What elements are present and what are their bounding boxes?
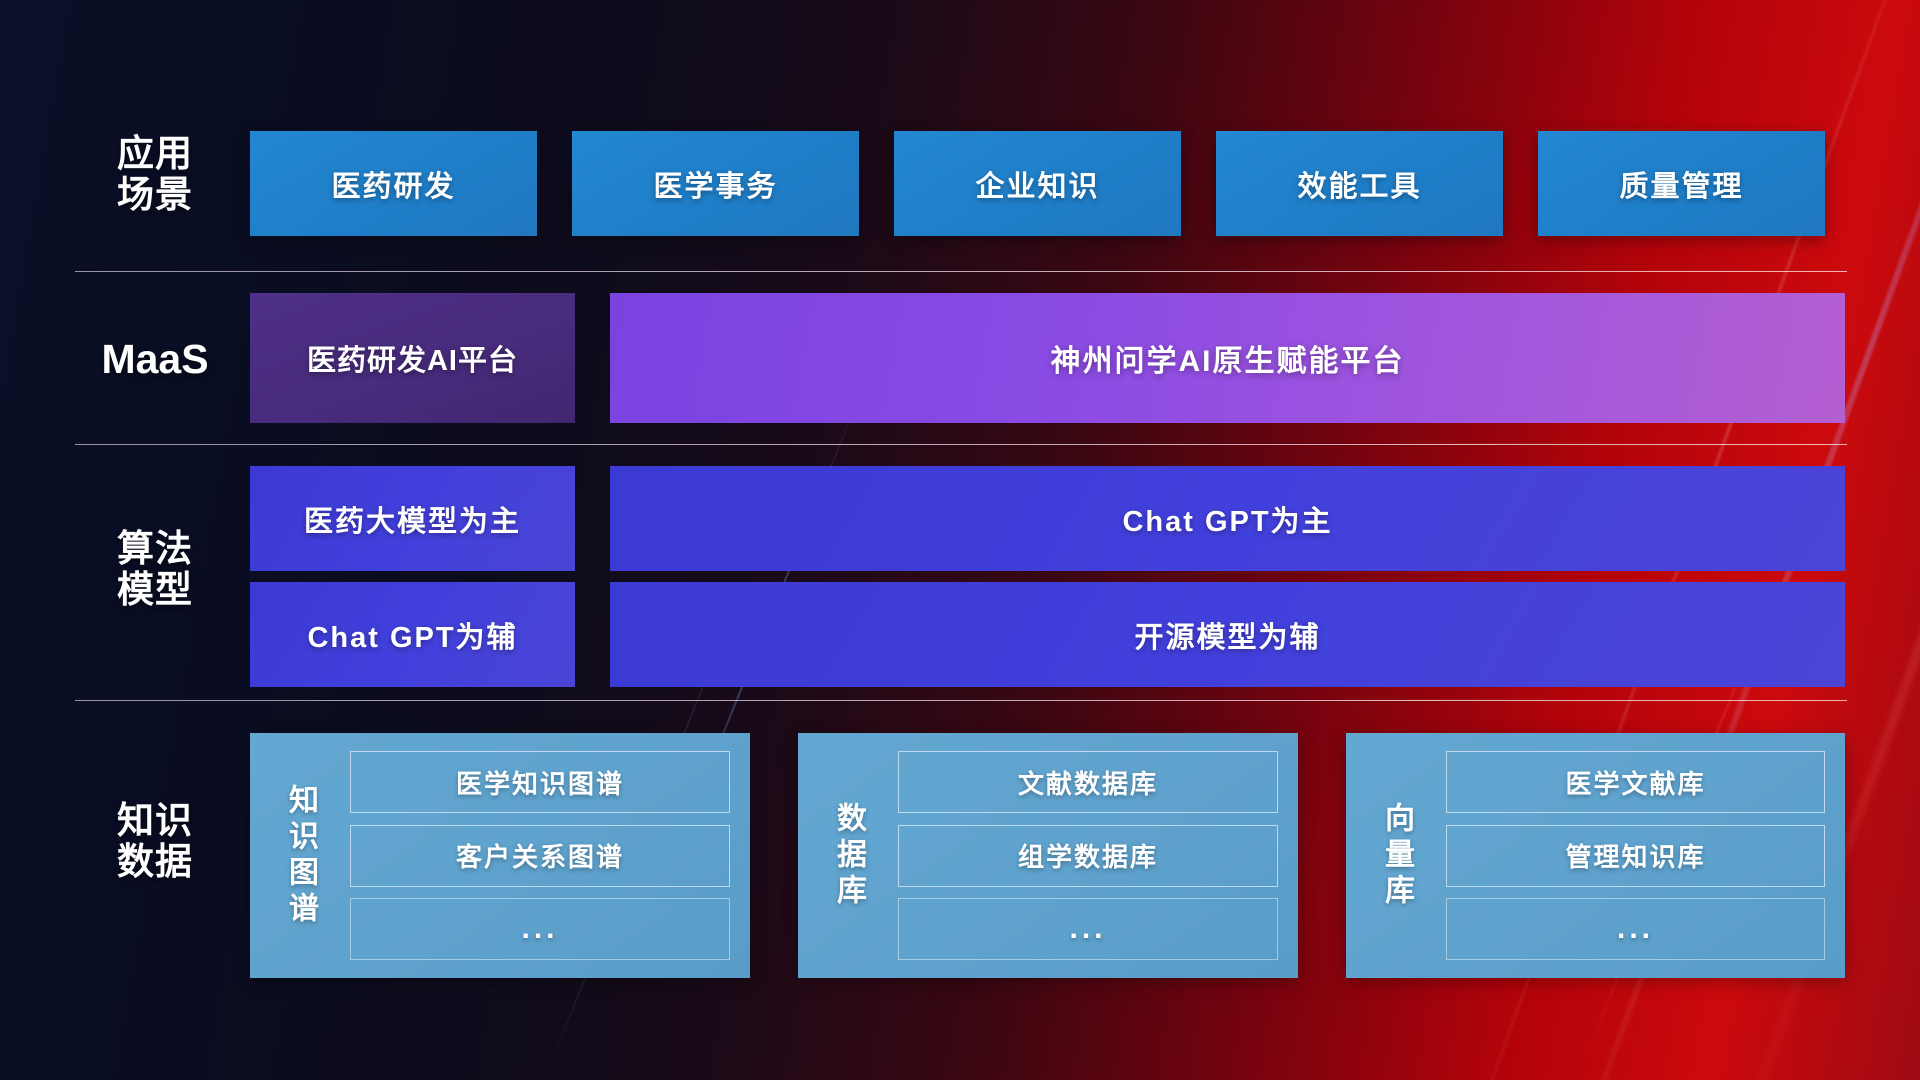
- row-label-knowledge-line1: 知识: [70, 800, 240, 841]
- divider-2: [75, 444, 1847, 445]
- divider-1: [75, 271, 1847, 272]
- knowledge-item-management-knowledge-base[interactable]: 管理知识库: [1446, 825, 1825, 887]
- app-box-efficiency-tools[interactable]: 效能工具: [1216, 131, 1503, 236]
- row-label-algorithm-line1: 算法: [70, 528, 240, 569]
- row-label-knowledge-line2: 数据: [70, 841, 240, 882]
- row-label-application: 应用 场景: [70, 133, 240, 216]
- row-label-algorithm-line2: 模型: [70, 569, 240, 610]
- app-box-enterprise-knowledge[interactable]: 企业知识: [894, 131, 1181, 236]
- knowledge-item-literature-database[interactable]: 文献数据库: [898, 751, 1278, 813]
- knowledge-item-vector-more[interactable]: ...: [1446, 898, 1825, 960]
- row-label-maas: MaaS: [70, 337, 240, 383]
- knowledge-panel-graph[interactable]: 知识图谱 医学知识图谱 客户关系图谱 ...: [250, 733, 750, 978]
- algorithm-row-2: Chat GPT为辅 开源模型为辅: [250, 582, 1845, 687]
- diagram-canvas: 应用 场景 医药研发 医学事务 企业知识 效能工具 质量管理 MaaS 医药研发…: [0, 0, 1920, 1080]
- knowledge-item-medical-literature-library[interactable]: 医学文献库: [1446, 751, 1825, 813]
- divider-3: [75, 700, 1847, 701]
- row-label-algorithm: 算法 模型: [70, 528, 240, 611]
- app-box-medical-affairs[interactable]: 医学事务: [572, 131, 859, 236]
- alg-box-opensource-model-secondary[interactable]: 开源模型为辅: [610, 582, 1845, 687]
- row-label-application-line2: 场景: [70, 174, 240, 215]
- knowledge-panel-graph-items: 医学知识图谱 客户关系图谱 ...: [336, 745, 736, 966]
- alg-box-chatgpt-secondary[interactable]: Chat GPT为辅: [250, 582, 575, 687]
- algorithm-row-1: 医药大模型为主 Chat GPT为主: [250, 466, 1845, 571]
- application-row: 医药研发 医学事务 企业知识 效能工具 质量管理: [250, 131, 1845, 236]
- knowledge-panel-vector[interactable]: 向量库 医学文献库 管理知识库 ...: [1346, 733, 1845, 978]
- knowledge-item-graph-more[interactable]: ...: [350, 898, 730, 960]
- knowledge-panel-graph-title: 知识图谱: [264, 745, 336, 966]
- knowledge-panel-database[interactable]: 数据库 文献数据库 组学数据库 ...: [798, 733, 1298, 978]
- knowledge-item-customer-relation-graph[interactable]: 客户关系图谱: [350, 825, 730, 887]
- row-label-application-line1: 应用: [70, 133, 240, 174]
- alg-box-chatgpt-primary[interactable]: Chat GPT为主: [610, 466, 1845, 571]
- app-box-quality-management[interactable]: 质量管理: [1538, 131, 1825, 236]
- alg-box-medical-large-model-primary[interactable]: 医药大模型为主: [250, 466, 575, 571]
- knowledge-item-database-more[interactable]: ...: [898, 898, 1278, 960]
- knowledge-panel-database-title: 数据库: [812, 745, 884, 966]
- app-box-medical-rd[interactable]: 医药研发: [250, 131, 537, 236]
- knowledge-item-medical-knowledge-graph[interactable]: 医学知识图谱: [350, 751, 730, 813]
- maas-box-shenzhou-wenxue-platform[interactable]: 神州问学AI原生赋能平台: [610, 293, 1845, 423]
- knowledge-panel-vector-title: 向量库: [1360, 745, 1432, 966]
- maas-row: 医药研发AI平台 神州问学AI原生赋能平台: [250, 293, 1845, 423]
- knowledge-panel-database-items: 文献数据库 组学数据库 ...: [884, 745, 1284, 966]
- row-label-knowledge: 知识 数据: [70, 800, 240, 883]
- knowledge-row: 知识图谱 医学知识图谱 客户关系图谱 ... 数据库 文献数据库 组学数据库 .…: [250, 733, 1845, 978]
- maas-box-medical-rd-platform[interactable]: 医药研发AI平台: [250, 293, 575, 423]
- knowledge-item-omics-database[interactable]: 组学数据库: [898, 825, 1278, 887]
- knowledge-panel-vector-items: 医学文献库 管理知识库 ...: [1432, 745, 1831, 966]
